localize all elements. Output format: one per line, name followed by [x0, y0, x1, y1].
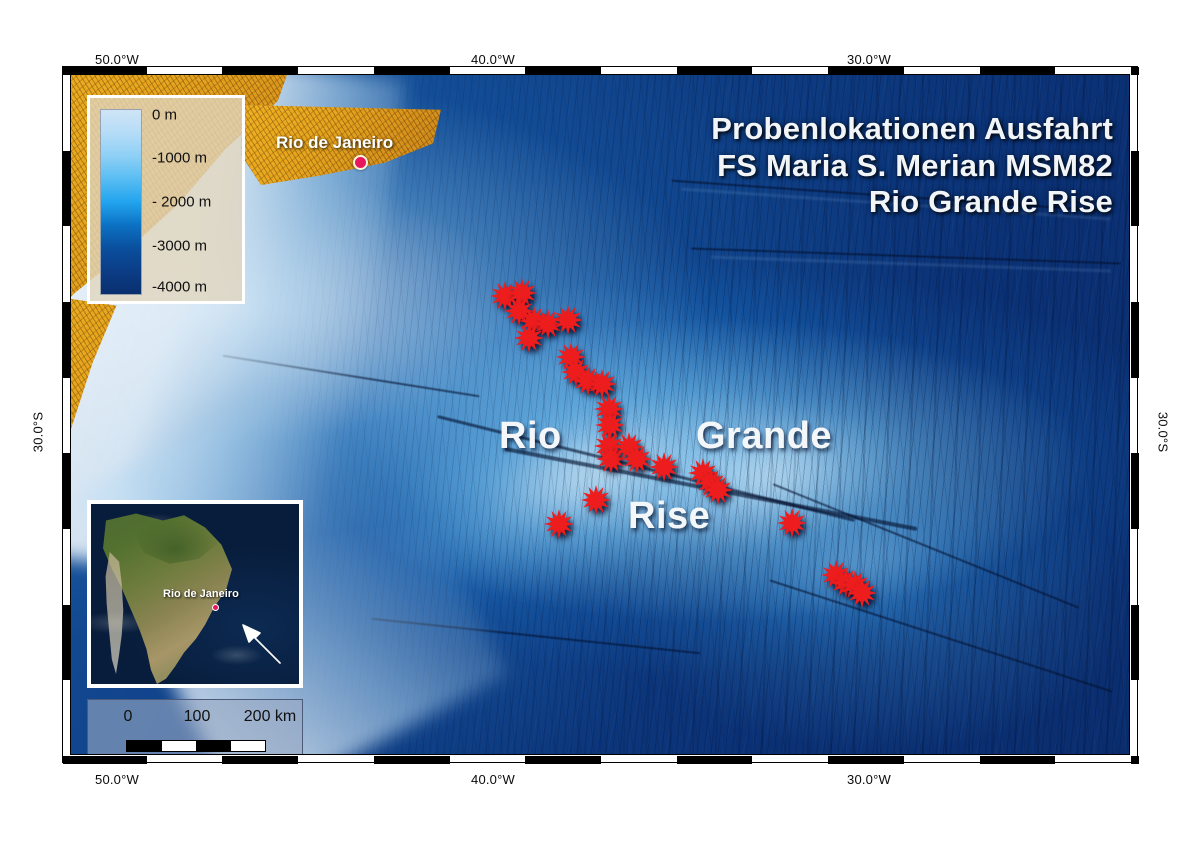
- star-icon: [553, 305, 583, 335]
- station-marker[interactable]: [514, 323, 544, 353]
- map-frame-inner: Rio de Janeiro Rio Grande Rise Probenlok…: [70, 74, 1130, 755]
- frame-segment: [1131, 756, 1139, 764]
- star-icon: [703, 475, 733, 505]
- map-canvas: Rio de Janeiro Rio Grande Rise Probenlok…: [71, 75, 1130, 755]
- star-icon: [622, 444, 652, 474]
- scale-bar-legend: 0 100 200 km: [87, 699, 303, 755]
- frame-segment: [1131, 453, 1139, 529]
- lon-tick-label: 50.0°W: [95, 52, 139, 67]
- frame-segment: [71, 756, 147, 764]
- inset-overview-map[interactable]: Rio de Janeiro: [87, 500, 303, 688]
- star-icon: [847, 578, 877, 608]
- station-marker[interactable]: [622, 444, 652, 474]
- frame-segment: [1131, 302, 1139, 378]
- frame-segment: [222, 756, 298, 764]
- station-marker[interactable]: [581, 485, 611, 515]
- lon-tick-label: 40.0°W: [471, 772, 515, 787]
- frame-segment: [828, 756, 904, 764]
- scale-tick: 0: [124, 708, 133, 726]
- map-title: Probenlokationen Ausfahrt FS Maria S. Me…: [711, 111, 1113, 221]
- lon-tick-label: 30.0°W: [847, 52, 891, 67]
- depth-colorbar-legend: 0 m -1000 m - 2000 m -3000 m -4000 m: [87, 95, 245, 304]
- colorbar-tick-label: -3000 m: [152, 238, 207, 255]
- title-line-3: Rio Grande Rise: [711, 184, 1113, 221]
- lon-tick-label: 40.0°W: [471, 52, 515, 67]
- station-marker[interactable]: [703, 475, 733, 505]
- frame-segment: [525, 756, 601, 764]
- scale-tick: 200 km: [244, 708, 296, 726]
- inset-pointer-arrow: [236, 619, 284, 667]
- frame-segment: [1131, 151, 1139, 227]
- feature-label-grande: Grande: [696, 415, 832, 458]
- city-label-rio: Rio de Janeiro: [276, 133, 393, 153]
- star-icon: [514, 323, 544, 353]
- scale-segment: [196, 741, 231, 751]
- star-icon: [777, 508, 807, 538]
- scale-segment: [231, 741, 266, 751]
- lat-tick-label-right: 30.0°S: [1156, 412, 1171, 452]
- scale-segment: [162, 741, 197, 751]
- feature-label-rio: Rio: [499, 415, 562, 458]
- feature-label-rise: Rise: [628, 495, 710, 538]
- station-marker[interactable]: [544, 509, 574, 539]
- lon-tick-label: 50.0°W: [95, 772, 139, 787]
- frame-segment: [1131, 605, 1139, 681]
- scale-segment: [127, 741, 162, 751]
- city-marker-rio: [353, 155, 368, 170]
- station-marker[interactable]: [553, 305, 583, 335]
- scale-bar-graphic: [126, 740, 266, 752]
- colorbar-tick-label: -1000 m: [152, 150, 207, 167]
- frame-segment: [677, 756, 753, 764]
- frame-segment: [63, 756, 71, 764]
- colorbar-gradient: [100, 109, 142, 295]
- title-line-2: FS Maria S. Merian MSM82: [711, 148, 1113, 185]
- inset-city-marker: [212, 604, 219, 611]
- star-icon: [581, 485, 611, 515]
- frame-segment: [1131, 67, 1139, 75]
- colorbar-tick-label: -4000 m: [152, 279, 207, 296]
- lat-tick-label-left: 30.0°S: [31, 412, 46, 452]
- station-marker[interactable]: [649, 452, 679, 482]
- frame-segment: [980, 756, 1056, 764]
- scale-tick-labels: 0 100 200 km: [88, 708, 302, 730]
- station-marker[interactable]: [847, 578, 877, 608]
- lon-tick-label: 30.0°W: [847, 772, 891, 787]
- map-figure: 50.0°W 40.0°W 30.0°W 50.0°W 40.0°W 30.0°…: [0, 0, 1200, 849]
- colorbar-tick-label: 0 m: [152, 107, 177, 124]
- star-icon: [544, 509, 574, 539]
- colorbar-tick-label: - 2000 m: [152, 194, 211, 211]
- frame-segment: [374, 756, 450, 764]
- station-marker[interactable]: [777, 508, 807, 538]
- inset-city-label: Rio de Janeiro: [163, 588, 239, 600]
- star-icon: [649, 452, 679, 482]
- title-line-1: Probenlokationen Ausfahrt: [711, 111, 1113, 148]
- scale-tick: 100: [184, 708, 211, 726]
